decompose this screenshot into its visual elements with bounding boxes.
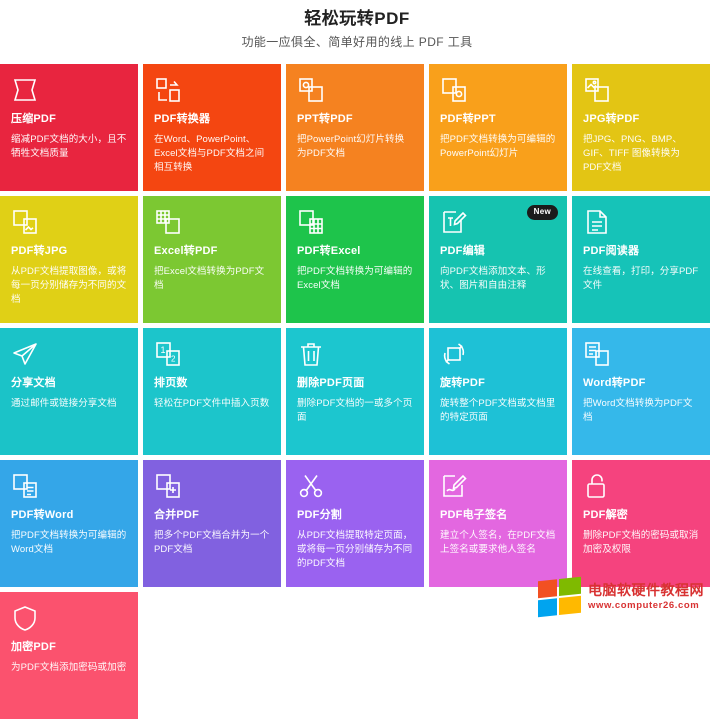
tool-card[interactable]: JPG转PDF把JPG、PNG、BMP、GIF、TIFF 图像转换为PDF文档	[572, 64, 710, 191]
rotate-icon	[440, 340, 556, 370]
tool-card-description: 向PDF文档添加文本、形状、图片和自由注释	[440, 265, 556, 293]
trash-icon	[297, 340, 413, 370]
new-badge: New	[527, 205, 558, 220]
sign-icon	[440, 472, 556, 502]
page-number-icon: 12	[154, 340, 270, 370]
tool-card-description: 删除PDF文档的一或多个页面	[297, 397, 413, 425]
tool-card[interactable]: PDF转JPG从PDF文档提取图像，或将每一页分别储存为不同的文档	[0, 196, 138, 323]
tool-card-title: PDF解密	[583, 508, 699, 522]
tool-card-description: 缩减PDF文档的大小，且不牺牲文档质量	[11, 133, 127, 161]
tool-card-title: PDF转换器	[154, 112, 270, 126]
tool-card-description: 把PowerPoint幻灯片转换为PDF文档	[297, 133, 413, 161]
tool-card-description: 把Excel文档转换为PDF文档	[154, 265, 270, 293]
tool-card-title: JPG转PDF	[583, 112, 699, 126]
word-to-pdf-icon	[583, 340, 699, 370]
tool-card-title: PPT转PDF	[297, 112, 413, 126]
tool-card-title: 排页数	[154, 376, 270, 390]
share-icon	[11, 340, 127, 370]
logo-square-yellow	[559, 596, 581, 615]
ppt-to-pdf-icon	[297, 76, 413, 106]
tool-card[interactable]: PDF转换器在Word、PowerPoint、Excel文档与PDF文档之间相互…	[143, 64, 281, 191]
tool-card-title: PDF分割	[297, 508, 413, 522]
tool-card[interactable]: PDF转PPT把PDF文档转换为可编辑的PowerPoint幻灯片	[429, 64, 567, 191]
tool-card-title: 加密PDF	[11, 640, 127, 654]
tool-card[interactable]: PDF阅读器在线查看，打印，分享PDF文件	[572, 196, 710, 323]
tool-card-title: PDF编辑	[440, 244, 556, 258]
watermark-site-name: 电脑软硬件教程网	[588, 582, 704, 599]
tool-card[interactable]: PDF转Word把PDF文档转换为可编辑的Word文档	[0, 460, 138, 587]
convert-icon	[154, 76, 270, 106]
jpg-to-pdf-icon	[583, 76, 699, 106]
tool-card[interactable]: Word转PDF把Word文档转换为PDF文档	[572, 328, 710, 455]
tool-card-title: 删除PDF页面	[297, 376, 413, 390]
tool-card[interactable]: 旋转PDF旋转整个PDF文档或文档里的特定页面	[429, 328, 567, 455]
shield-icon	[11, 604, 127, 634]
svg-text:1: 1	[161, 345, 166, 355]
tool-card-description: 为PDF文档添加密码或加密	[11, 661, 127, 675]
pdf-to-excel-icon	[297, 208, 413, 238]
tool-card-description: 从PDF文档提取图像，或将每一页分别储存为不同的文档	[11, 265, 127, 307]
pdf-to-jpg-icon	[11, 208, 127, 238]
tool-card-description: 把PDF文档转换为可编辑的PowerPoint幻灯片	[440, 133, 556, 161]
site-watermark: 电脑软硬件教程网 www.computer26.com	[538, 579, 704, 615]
tool-card-description: 轻松在PDF文件中插入页数	[154, 397, 270, 411]
svg-text:2: 2	[171, 355, 176, 364]
tool-card[interactable]: PDF电子签名建立个人签名，在PDF文档上签名或要求他人签名	[429, 460, 567, 587]
tool-card[interactable]: 分享文档通过邮件或链接分享文档	[0, 328, 138, 455]
logo-square-green	[559, 577, 581, 596]
tool-card-title: Excel转PDF	[154, 244, 270, 258]
tool-card-description: 通过邮件或链接分享文档	[11, 397, 127, 411]
reader-icon	[583, 208, 699, 238]
tool-card-description: 在Word、PowerPoint、Excel文档与PDF文档之间相互转换	[154, 133, 270, 175]
page-title: 轻松玩转PDF	[0, 8, 714, 30]
tool-card-title: 分享文档	[11, 376, 127, 390]
tool-card[interactable]: 删除PDF页面删除PDF文档的一或多个页面	[286, 328, 424, 455]
watermark-site-url: www.computer26.com	[588, 599, 704, 612]
tool-card[interactable]: PDF分割从PDF文档提取特定页面，或将每一页分别储存为不同的PDF文档	[286, 460, 424, 587]
tool-card-title: PDF转Excel	[297, 244, 413, 258]
tool-card-title: 合并PDF	[154, 508, 270, 522]
page-header: 轻松玩转PDF 功能一应俱全、简单好用的线上 PDF 工具	[0, 0, 714, 50]
tool-card[interactable]: 合并PDF把多个PDF文档合并为一个PDF文档	[143, 460, 281, 587]
tool-card-title: Word转PDF	[583, 376, 699, 390]
tool-card[interactable]: PPT转PDF把PowerPoint幻灯片转换为PDF文档	[286, 64, 424, 191]
tool-card-description: 建立个人签名，在PDF文档上签名或要求他人签名	[440, 529, 556, 557]
pdf-to-ppt-icon	[440, 76, 556, 106]
page-subtitle: 功能一应俱全、简单好用的线上 PDF 工具	[0, 34, 714, 50]
tool-card-description: 从PDF文档提取特定页面，或将每一页分别储存为不同的PDF文档	[297, 529, 413, 571]
tool-card-title: 压缩PDF	[11, 112, 127, 126]
tool-card-title: PDF转PPT	[440, 112, 556, 126]
tool-card-description: 把PDF文档转换为可编辑的Excel文档	[297, 265, 413, 293]
logo-square-red	[538, 579, 557, 598]
tool-card[interactable]: NewPDF编辑向PDF文档添加文本、形状、图片和自由注释	[429, 196, 567, 323]
tool-card[interactable]: 12排页数轻松在PDF文件中插入页数	[143, 328, 281, 455]
tool-card[interactable]: PDF转Excel把PDF文档转换为可编辑的Excel文档	[286, 196, 424, 323]
tool-card[interactable]: 加密PDF为PDF文档添加密码或加密	[0, 592, 138, 719]
tool-card-grid: 压缩PDF缩减PDF文档的大小，且不牺牲文档质量PDF转换器在Word、Powe…	[0, 64, 714, 719]
tool-card-title: PDF转JPG	[11, 244, 127, 258]
split-icon	[297, 472, 413, 502]
tool-card-description: 在线查看，打印，分享PDF文件	[583, 265, 699, 293]
tool-card-description: 旋转整个PDF文档或文档里的特定页面	[440, 397, 556, 425]
logo-square-blue	[538, 598, 557, 617]
unlock-icon	[583, 472, 699, 502]
tool-card-title: 旋转PDF	[440, 376, 556, 390]
tool-card-description: 把Word文档转换为PDF文档	[583, 397, 699, 425]
windows-logo-icon	[538, 577, 581, 618]
tool-card-description: 把JPG、PNG、BMP、GIF、TIFF 图像转换为PDF文档	[583, 133, 699, 175]
excel-to-pdf-icon	[154, 208, 270, 238]
tool-card[interactable]: PDF解密删除PDF文档的密码或取消加密及权限	[572, 460, 710, 587]
tool-card-description: 把PDF文档转换为可编辑的Word文档	[11, 529, 127, 557]
tool-card-description: 删除PDF文档的密码或取消加密及权限	[583, 529, 699, 557]
tool-card-title: PDF电子签名	[440, 508, 556, 522]
pdf-to-word-icon	[11, 472, 127, 502]
tool-card[interactable]: Excel转PDF把Excel文档转换为PDF文档	[143, 196, 281, 323]
compress-icon	[11, 76, 127, 106]
tool-card-title: PDF转Word	[11, 508, 127, 522]
tool-card-title: PDF阅读器	[583, 244, 699, 258]
tool-card-description: 把多个PDF文档合并为一个PDF文档	[154, 529, 270, 557]
merge-icon	[154, 472, 270, 502]
tool-card[interactable]: 压缩PDF缩减PDF文档的大小，且不牺牲文档质量	[0, 64, 138, 191]
